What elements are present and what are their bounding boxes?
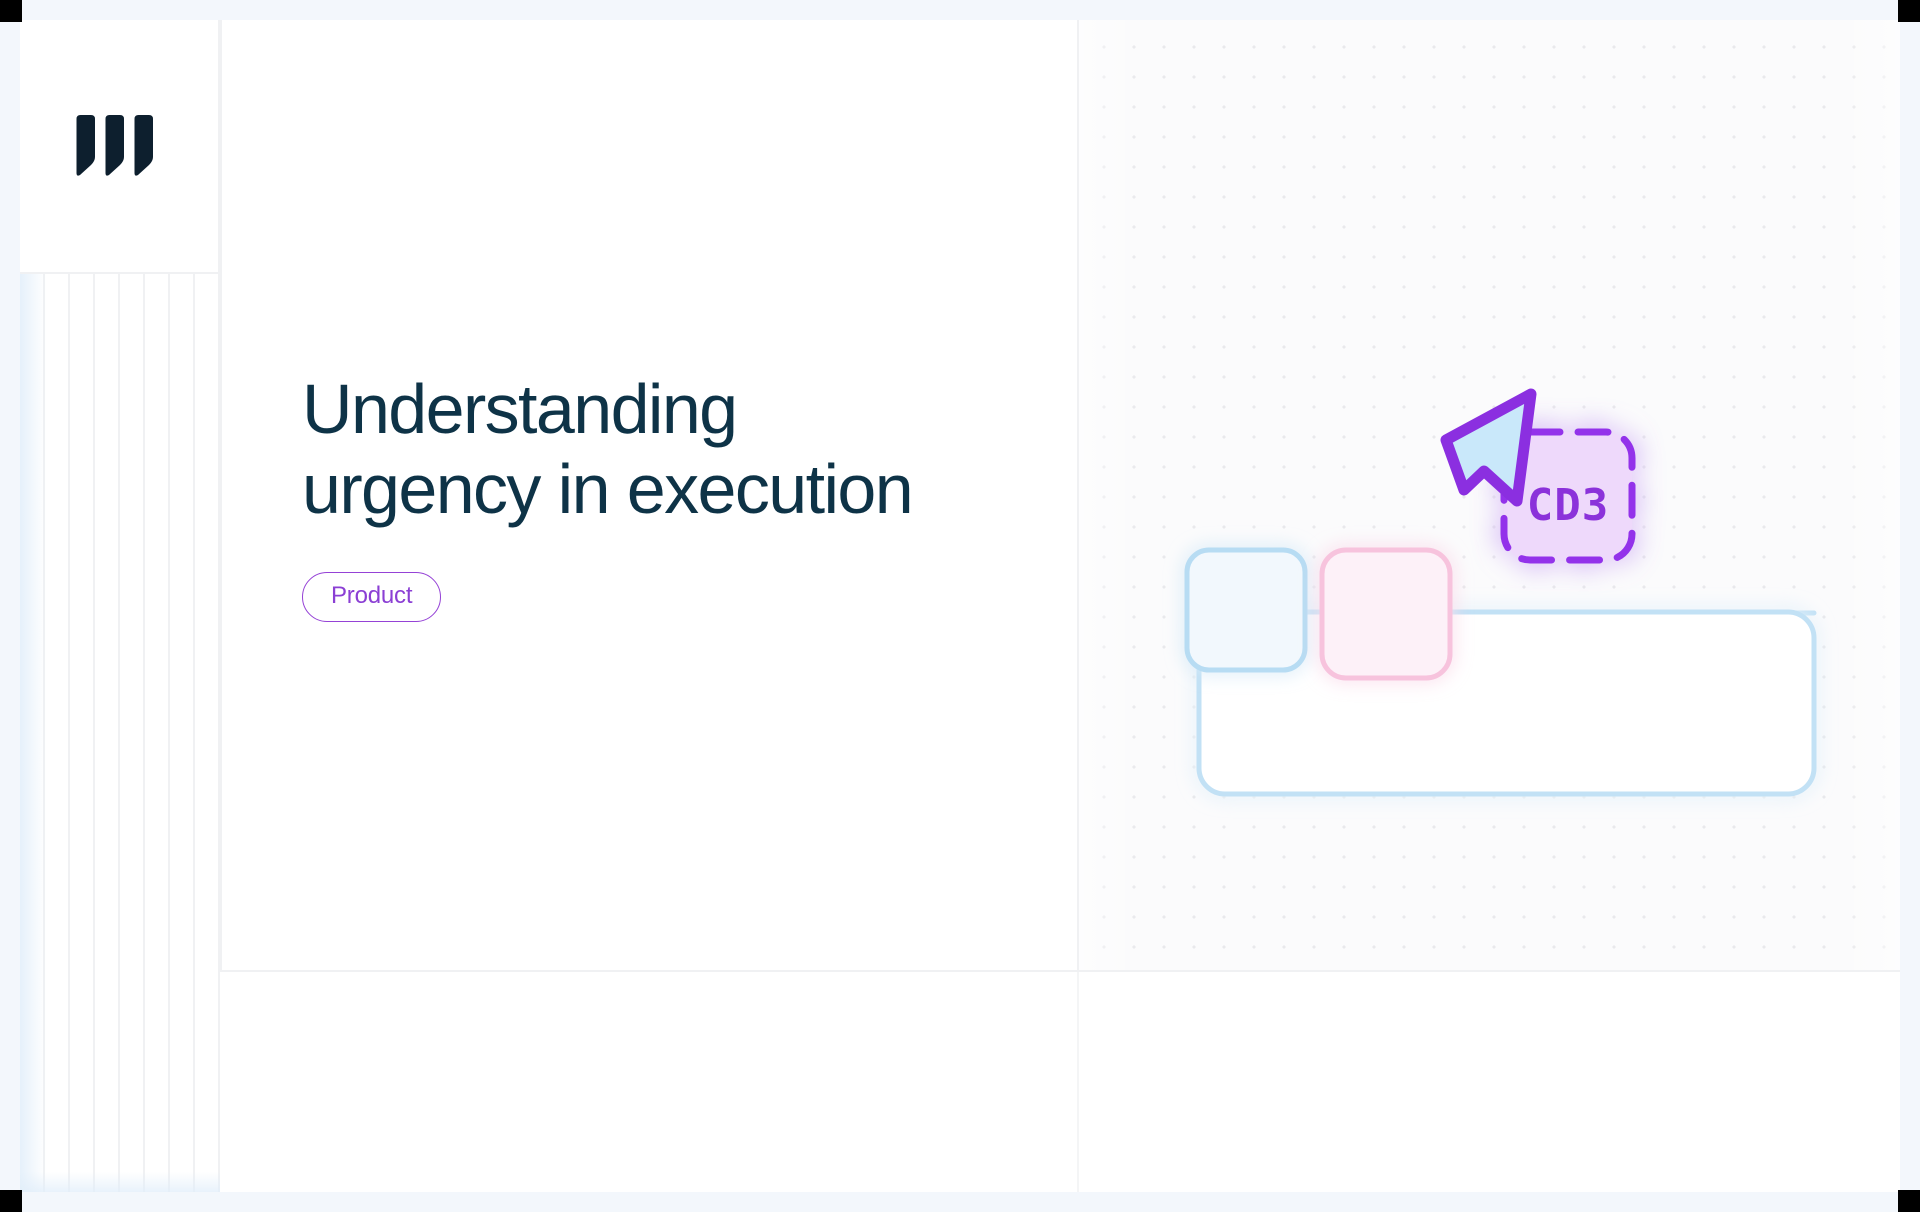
footer-band-divider	[1077, 972, 1079, 1192]
cd3-tile-label: CD3	[1527, 480, 1609, 531]
corner-marker-top-left	[0, 0, 22, 22]
category-badge-product[interactable]: Product	[302, 572, 441, 622]
brand-logo-icon[interactable]	[69, 115, 169, 177]
divider-vertical-left	[220, 20, 222, 972]
cursor-arrow-icon	[1446, 394, 1531, 501]
page-title: Understanding urgency in execution	[302, 369, 942, 530]
logo-panel[interactable]	[20, 20, 220, 272]
category-badge-row: Product	[302, 572, 1007, 622]
article-header-column: Understanding urgency in execution Produ…	[222, 20, 1077, 970]
pink-node	[1322, 550, 1450, 678]
divider-horizontal	[220, 970, 1900, 972]
footer-band	[220, 972, 1900, 1192]
corner-marker-bottom-right	[1898, 1190, 1920, 1212]
corner-marker-top-right	[1898, 0, 1920, 22]
illustration-panel: CD3	[1079, 20, 1900, 970]
blue-node	[1187, 550, 1305, 670]
divider-vertical-center	[1077, 20, 1079, 972]
decorative-stripe-column	[20, 272, 220, 1192]
corner-marker-bottom-left	[0, 1190, 22, 1212]
content-card: Understanding urgency in execution Produ…	[20, 20, 1900, 1192]
stripe-column-top-divider	[20, 272, 220, 274]
